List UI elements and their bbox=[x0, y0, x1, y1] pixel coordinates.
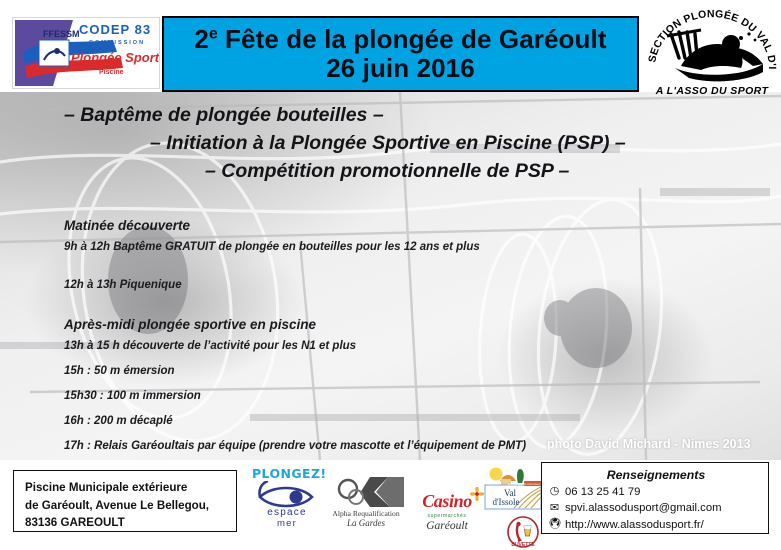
svg-text:CODEP 83: CODEP 83 bbox=[79, 22, 151, 37]
poster-root: FFESSM CODEP 83 COMMISSION Plongée Sport… bbox=[0, 0, 781, 550]
svg-text:FFESSM: FFESSM bbox=[43, 29, 80, 39]
programme-afternoon-item: 17h : Relais Garéoultais par équipe (pre… bbox=[64, 440, 584, 452]
svg-text:Plongée Sportive: Plongée Sportive bbox=[71, 50, 159, 65]
svg-text:Piscine: Piscine bbox=[99, 69, 124, 76]
spacer-2 bbox=[64, 304, 584, 317]
val-dissole-logo: communauté de communes Val d'Issole Val … bbox=[484, 465, 542, 516]
contact-information-box: Renseignements ◷ 06 13 25 41 79 ✉ spvi.a… bbox=[541, 462, 769, 534]
programme-afternoon-item: 16h : 200 m décaplé bbox=[64, 415, 584, 427]
ffessm-codep83-logo: FFESSM CODEP 83 COMMISSION Plongée Sport… bbox=[12, 17, 160, 89]
programme-afternoon-item: 15h : 50 m émersion bbox=[64, 365, 584, 377]
casino-brand-label: Casino bbox=[422, 491, 472, 511]
subtitle-line-3: – Compétition promotionnelle de PSP – bbox=[205, 162, 569, 182]
photo-credit: photo David Michard - Nimes 2013 bbox=[547, 437, 751, 451]
page-title-line1: 2e Fête de la plongée de Garéoult bbox=[194, 25, 606, 54]
page-title-line2: 26 juin 2016 bbox=[326, 54, 475, 83]
programme-afternoon-item: 13h à 15 h découverte de l’activité pour… bbox=[64, 340, 584, 352]
contact-email-value[interactable]: spvi.alassodusport@gmail.com bbox=[565, 500, 722, 516]
contact-box-title: Renseignements bbox=[548, 468, 764, 482]
svg-text:A L'ASSO DU SPORT: A L'ASSO DU SPORT bbox=[655, 85, 770, 97]
espace-mer-logo: PLONGEZ! espace mer bbox=[252, 466, 322, 529]
buvette-badge: BUVETTE BUVETTE bbox=[506, 516, 540, 548]
svg-text:COMMISSION: COMMISSION bbox=[89, 40, 145, 46]
title-ordinal-suffix: e bbox=[209, 25, 218, 42]
title-ordinal-number: 2 bbox=[194, 24, 209, 54]
contact-phone-value: 06 13 25 41 79 bbox=[565, 484, 640, 500]
address-line-3: 83136 GAREOULT bbox=[25, 514, 236, 532]
programme-lunch-item: 12h à 13h Piquenique bbox=[64, 279, 584, 291]
address-line-2: de Garéoult, Avenue Le Bellegou, bbox=[25, 497, 236, 515]
subtitle-line-1: – Baptême de plongée bouteilles – bbox=[64, 106, 384, 126]
alpha-requalification-line-1: Alpha Requalification bbox=[324, 509, 408, 518]
contact-phone-row: ◷ 06 13 25 41 79 bbox=[548, 484, 768, 500]
espace-mer-eye-icon bbox=[252, 481, 322, 515]
sponsor-logo-row: PLONGEZ! espace mer Alpha Requalificatio… bbox=[248, 463, 538, 549]
programme-afternoon-item: 15h30 : 100 m immersion bbox=[64, 390, 584, 402]
svg-text:communauté de communes: communauté de communes bbox=[508, 482, 541, 486]
alpha-requalification-mark-icon bbox=[326, 475, 406, 509]
section-plongee-val-dissole-logo: SECTION PLONGÉE DU VAL D'ISSOLE A L'ASSO… bbox=[645, 4, 779, 104]
espace-mer-word-2: mer bbox=[252, 518, 322, 529]
casino-flower-icon bbox=[470, 487, 484, 501]
programme-afternoon-heading: Après-midi plongée sportive en piscine bbox=[64, 317, 584, 332]
spacer-1 bbox=[64, 258, 584, 279]
venue-address-box: Piscine Municipale extérieure de Garéoul… bbox=[13, 470, 237, 532]
espace-mer-plongez-label: PLONGEZ! bbox=[252, 466, 322, 481]
alpha-requalification-logo: Alpha Requalification La Gardes bbox=[324, 475, 408, 528]
casino-supermarche-logo: Casino supermarchés Garéoult bbox=[408, 491, 486, 532]
title-banner: 2e Fête de la plongée de Garéoult 26 jui… bbox=[162, 16, 639, 92]
svg-text:BUVETTE: BUVETTE bbox=[511, 542, 535, 548]
title-main-text: Fête de la plongée de Garéoult bbox=[218, 24, 607, 54]
contact-email-row[interactable]: ✉ spvi.alassodusport@gmail.com bbox=[548, 500, 768, 516]
subtitle-line-2: – Initiation à la Plongée Sportive en Pi… bbox=[150, 134, 626, 154]
monitor-icon: 🖲 bbox=[548, 517, 561, 533]
programme-morning-item: 9h à 12h Baptême GRATUIT de plongée en b… bbox=[64, 241, 584, 253]
contact-website-value[interactable]: http://www.alassodusport.fr/ bbox=[565, 517, 704, 533]
casino-town-label: Garéoult bbox=[408, 520, 486, 532]
programme-morning-heading: Matinée découverte bbox=[64, 218, 584, 233]
svg-text:d'Issole: d'Issole bbox=[492, 497, 519, 507]
programme-block: Matinée découverte 9h à 12h Baptême GRAT… bbox=[64, 218, 584, 457]
address-line-1: Piscine Municipale extérieure bbox=[25, 479, 236, 497]
casino-subtitle: supermarchés bbox=[408, 513, 486, 519]
clock-icon: ◷ bbox=[548, 484, 561, 500]
envelope-icon: ✉ bbox=[548, 501, 561, 517]
contact-website-row[interactable]: 🖲 http://www.alassodusport.fr/ bbox=[548, 517, 768, 533]
alpha-requalification-line-2: La Gardes bbox=[324, 518, 408, 528]
